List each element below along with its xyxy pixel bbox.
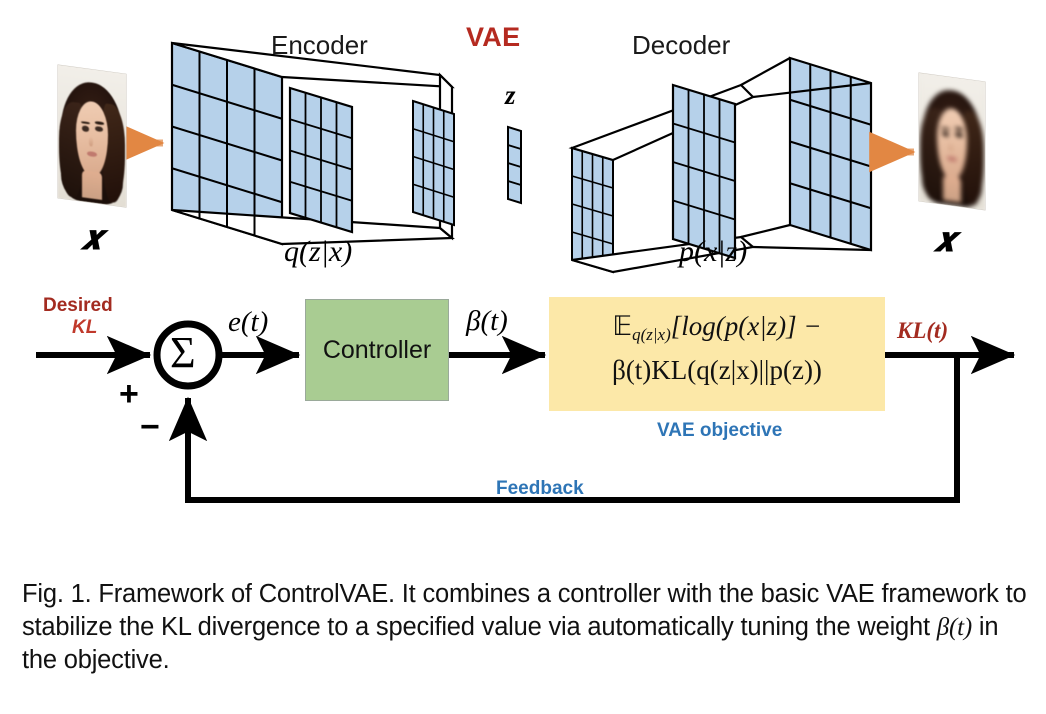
minus-sign: − [140, 410, 160, 444]
plus-sign: + [119, 377, 139, 411]
feedback-label: Feedback [496, 478, 584, 500]
output-x-label: 𝒙 [934, 222, 956, 260]
beta-signal-label: β(t) [466, 305, 508, 338]
likelihood-label: p(x|z) [679, 235, 747, 269]
encoder-block [172, 43, 454, 244]
controller-box[interactable]: Controller [305, 299, 449, 401]
sum-symbol: Σ [170, 331, 196, 375]
figure-caption: Fig. 1. Framework of ControlVAE. It comb… [22, 578, 1027, 677]
expectation-subscript: q(z|x) [632, 325, 671, 344]
vae-title: VAE [466, 22, 520, 53]
caption-math: β(t) [937, 614, 972, 641]
latent-vector [508, 127, 521, 203]
setpoint-label-line2: KL [72, 317, 97, 339]
output-image-thumbnail [919, 73, 985, 210]
latent-variable-label: z [505, 80, 516, 111]
figure-container: Encoder VAE Decoder z 𝒙 𝒙 q(z|x) p(x|z) … [0, 0, 1046, 714]
kl-output-label: KL(t) [897, 318, 948, 344]
caption-part1: Fig. 1. Framework of ControlVAE. It comb… [22, 580, 1026, 641]
posterior-label: q(z|x) [284, 235, 352, 269]
controller-label: Controller [323, 336, 431, 365]
input-x-label: 𝒙 [81, 220, 103, 258]
error-signal-label: e(t) [228, 306, 268, 339]
encoder-label: Encoder [271, 30, 368, 61]
expectation-symbol: 𝔼 [612, 311, 632, 341]
setpoint-label-line1: Desired [43, 295, 113, 317]
objective-box: 𝔼q(z|x)[log(p(x|z)] − β(t)KL(q(z|x)||p(z… [549, 297, 885, 411]
decoder-label: Decoder [632, 30, 730, 61]
objective-line1-rest: [log(p(x|z)] − [671, 311, 822, 341]
objective-caption: VAE objective [657, 420, 782, 442]
input-image-thumbnail [58, 65, 126, 207]
objective-line2: β(t)KL(q(z|x)||p(z)) [549, 355, 885, 386]
